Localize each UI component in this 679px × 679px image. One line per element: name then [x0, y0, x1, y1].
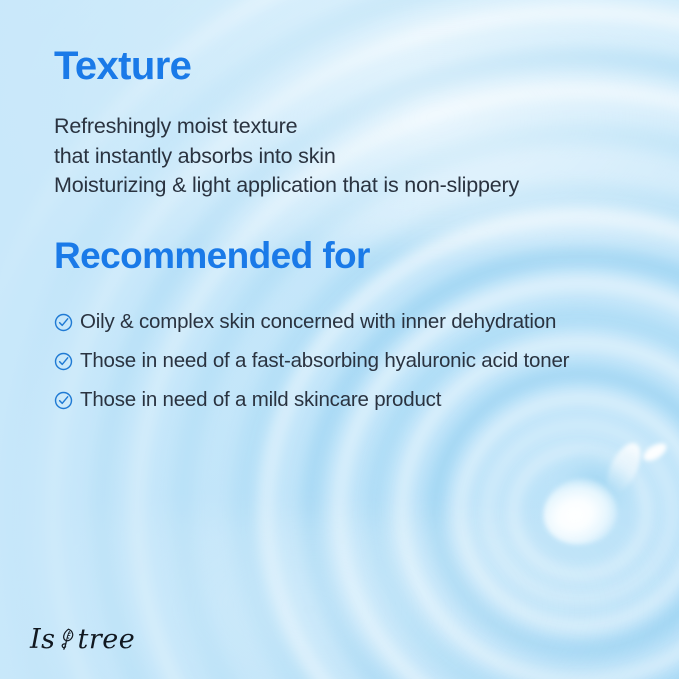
check-circle-icon [54, 313, 73, 332]
list-item: Those in need of a fast-absorbing hyalur… [54, 342, 569, 380]
recommended-list: Oily & complex skin concerned with inner… [54, 303, 569, 420]
list-item: Oily & complex skin concerned with inner… [54, 303, 569, 341]
texture-description: Refreshingly moist texture that instantl… [54, 112, 519, 201]
texture-line: Refreshingly moist texture [54, 112, 519, 142]
texture-line: Moisturizing & light application that is… [54, 171, 519, 201]
logo-text-suffix: tree [78, 626, 136, 653]
texture-heading: Texture [54, 44, 191, 89]
brand-logo: Is tree [30, 626, 135, 653]
check-circle-icon [54, 391, 73, 410]
logo-text-prefix: Is [30, 626, 56, 653]
leaf-icon [57, 626, 77, 652]
texture-line: that instantly absorbs into skin [54, 142, 519, 172]
check-circle-icon [54, 352, 73, 371]
list-item-label: Those in need of a mild skincare product [80, 390, 441, 411]
list-item-label: Those in need of a fast-absorbing hyalur… [80, 351, 569, 372]
product-info-slide: Texture Refreshingly moist texture that … [0, 0, 679, 679]
list-item-label: Oily & complex skin concerned with inner… [80, 312, 556, 333]
list-item: Those in need of a mild skincare product [54, 381, 569, 419]
content-area: Texture Refreshingly moist texture that … [54, 0, 654, 679]
recommended-heading: Recommended for [54, 235, 370, 277]
